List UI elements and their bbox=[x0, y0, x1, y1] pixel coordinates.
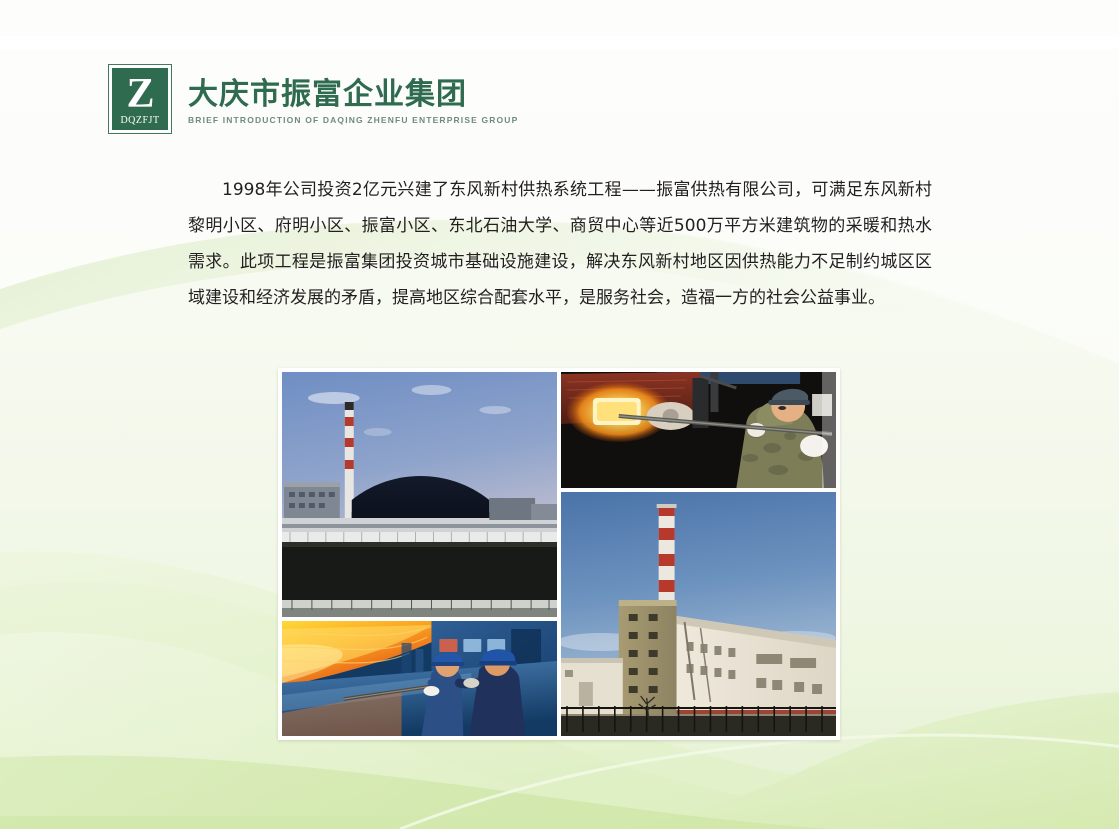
company-tagline-en: BRIEF INTRODUCTION OF DAQING ZHENFU ENTE… bbox=[188, 115, 518, 125]
company-name-cn: 大庆市振富企业集团 bbox=[188, 78, 518, 112]
brand-header: Z DQZFJT 大庆市振富企业集团 BRIEF INTRODUCTION OF… bbox=[108, 64, 518, 134]
collage-column-right: 工人在炉前检视燃烧火焰 bbox=[561, 372, 836, 736]
photo-factory: 供热厂主厂房外景与烟囱 bbox=[561, 492, 836, 736]
company-logo: Z DQZFJT bbox=[108, 64, 172, 134]
photo-collage: 振富供热厂区全景，红白相间烟囱与主厂房 bbox=[278, 368, 840, 740]
logo-abbreviation: DQZFJT bbox=[120, 115, 159, 126]
wave-crease bbox=[400, 735, 1119, 829]
logo-monogram-z: Z bbox=[126, 74, 153, 114]
brand-titles: 大庆市振富企业集团 BRIEF INTRODUCTION OF DAQING Z… bbox=[188, 64, 518, 125]
photo-furnace: 工人在炉前检视燃烧火焰 bbox=[561, 372, 836, 488]
wave-band-bottom bbox=[0, 756, 1119, 829]
intro-paragraph: 1998年公司投资2亿元兴建了东风新村供热系统工程——振富供热有限公司，可满足东… bbox=[188, 172, 932, 316]
photo-plant-wide: 振富供热厂区全景，红白相间烟囱与主厂房 bbox=[282, 372, 557, 617]
photo-boiler-room: 两名身着蓝色工装的工人在锅炉操作台作业 bbox=[282, 621, 557, 736]
collage-column-left: 振富供热厂区全景，红白相间烟囱与主厂房 bbox=[282, 372, 557, 736]
brochure-page: Z DQZFJT 大庆市振富企业集团 BRIEF INTRODUCTION OF… bbox=[0, 0, 1119, 829]
top-white-band bbox=[0, 36, 1119, 49]
